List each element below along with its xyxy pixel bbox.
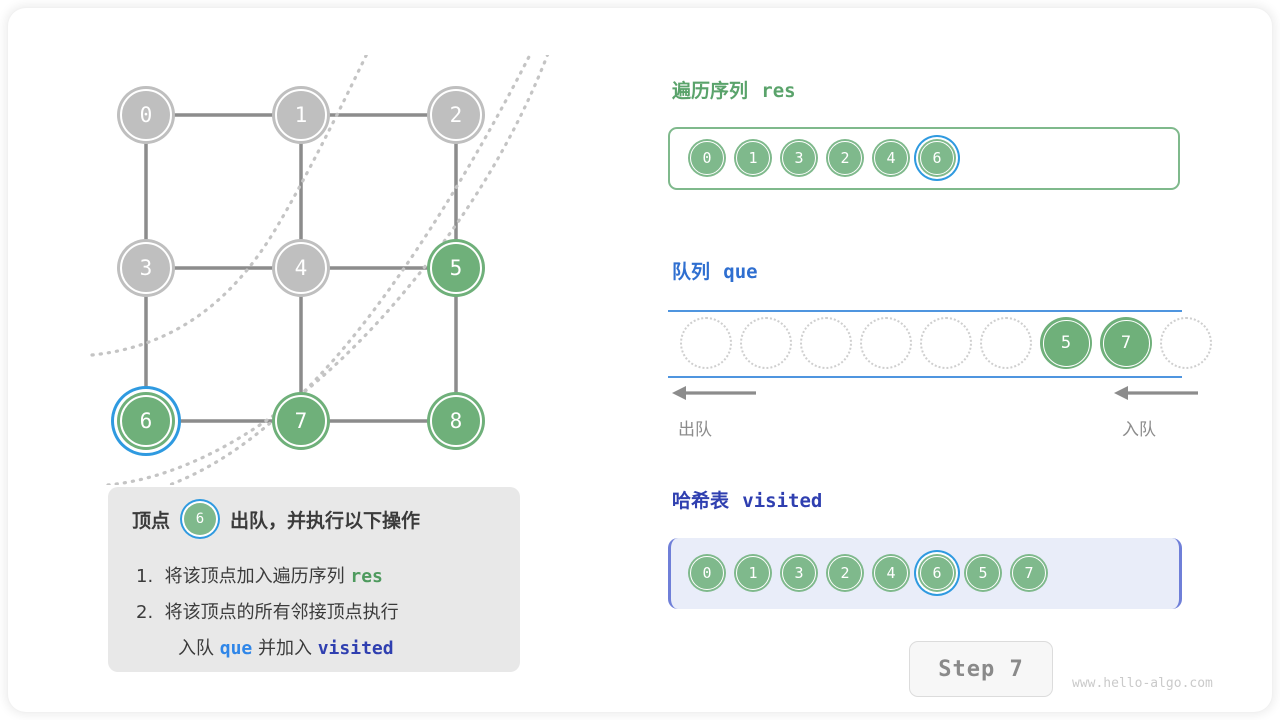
que-slot-label: 5 [1061,335,1071,352]
res-item[interactable]: 0 [688,139,726,177]
res-chip-row: 013246 [688,139,956,177]
res-item-label: 1 [748,151,757,166]
res-item-label: 4 [886,151,895,166]
info-step-1-index: 1. [136,566,153,587]
info-head-chip-label: 6 [196,511,204,527]
visited-item[interactable]: 2 [826,554,864,592]
que-slot-label: 7 [1121,335,1131,352]
graph-node-label: 3 [140,258,153,279]
res-item[interactable]: 3 [780,139,818,177]
res-item-label: 3 [794,151,803,166]
graph-node-5[interactable]: 5 [427,239,485,297]
visited-item[interactable]: 5 [964,554,1002,592]
info-step-2-index: 2. [136,602,153,623]
res-item[interactable]: 2 [826,139,864,177]
res-item[interactable]: 6 [918,139,956,177]
visited-item-label: 7 [1024,566,1033,581]
graph-node-0[interactable]: 0 [117,86,175,144]
graph-node-label: 4 [295,258,308,279]
graph-node-1[interactable]: 1 [272,86,330,144]
graph-node-label: 7 [295,411,308,432]
info-step-2-code-visited: visited [318,638,394,659]
info-step-2-cont: 入队 que 并加入 visited [178,634,394,660]
visited-item[interactable]: 4 [872,554,910,592]
info-step-2: 2. 将该顶点的所有邻接顶点执行 [136,598,399,624]
info-step-1-code: res [350,566,383,587]
graph-node-label: 1 [295,105,308,126]
visited-item-label: 1 [748,566,757,581]
graph-node-6[interactable]: 6 [117,392,175,450]
visited-item-label: 5 [978,566,987,581]
que-slot-empty[interactable] [680,317,732,369]
res-title-code: res [761,80,795,102]
step-badge: Step 7 [909,641,1053,697]
info-step-1: 1. 将该顶点加入遍历序列 res [136,562,383,588]
que-slot-row: 57 [680,317,1212,369]
visited-item-label: 3 [794,566,803,581]
visited-item-label: 6 [932,566,941,581]
visited-title: 哈希表 visited [672,486,822,513]
visited-item[interactable]: 0 [688,554,726,592]
visited-item[interactable]: 7 [1010,554,1048,592]
info-step-2-text: 将该顶点的所有邻接顶点执行 [165,602,399,623]
graph-node-4[interactable]: 4 [272,239,330,297]
watermark: www.hello-algo.com [1072,676,1213,691]
visited-item[interactable]: 6 [918,554,956,592]
res-item[interactable]: 4 [872,139,910,177]
res-title: 遍历序列 res [672,76,796,103]
dequeue-arrow-icon [668,382,758,404]
info-step-2-pre: 入队 [178,638,214,659]
info-head-chip: 6 [184,503,216,535]
que-title-code: que [723,261,757,283]
enqueue-arrow-icon [1110,382,1200,404]
visited-item-label: 4 [886,566,895,581]
visited-item-label: 2 [840,566,849,581]
info-heading: 顶点 6 出队，并执行以下操作 [132,503,420,535]
res-item[interactable]: 1 [734,139,772,177]
visited-chip-row: 01324657 [688,554,1048,592]
graph-node-2[interactable]: 2 [427,86,485,144]
graph-node-label: 8 [450,411,463,432]
que-title-cn: 队列 [672,261,710,283]
res-item-label: 0 [702,151,711,166]
que-slot-empty[interactable] [860,317,912,369]
graph-panel: 012345678 [90,55,560,485]
que-slot-empty[interactable] [1160,317,1212,369]
visited-item-label: 0 [702,566,711,581]
que-slot-empty[interactable] [800,317,852,369]
graph-node-label: 2 [450,105,463,126]
graph-node-8[interactable]: 8 [427,392,485,450]
graph-node-3[interactable]: 3 [117,239,175,297]
enqueue-label: 入队 [1122,415,1156,440]
visited-item[interactable]: 3 [780,554,818,592]
graph-node-7[interactable]: 7 [272,392,330,450]
res-item-label: 6 [932,151,941,166]
res-title-cn: 遍历序列 [672,80,748,102]
illustration-root: 012345678 遍历序列 res 013246 队列 que 57 出队 入… [0,0,1280,720]
info-step-2-mid: 并加入 [258,638,312,659]
dequeue-label: 出队 [678,415,712,440]
info-step-2-code-que: que [220,638,253,659]
que-slot-empty[interactable] [920,317,972,369]
graph-node-label: 5 [450,258,463,279]
info-head-prefix: 顶点 [132,506,170,533]
que-slot-empty[interactable] [980,317,1032,369]
info-head-suffix: 出队，并执行以下操作 [230,506,420,533]
que-slot-empty[interactable] [740,317,792,369]
res-item-label: 2 [840,151,849,166]
visited-title-cn: 哈希表 [672,490,729,512]
graph-node-label: 6 [140,411,153,432]
visited-title-code: visited [742,490,822,512]
que-title: 队列 que [672,257,758,284]
info-step-1-text: 将该顶点加入遍历序列 [165,566,345,587]
que-slot-filled[interactable]: 5 [1040,317,1092,369]
graph-node-label: 0 [140,105,153,126]
que-slot-filled[interactable]: 7 [1100,317,1152,369]
visited-item[interactable]: 1 [734,554,772,592]
